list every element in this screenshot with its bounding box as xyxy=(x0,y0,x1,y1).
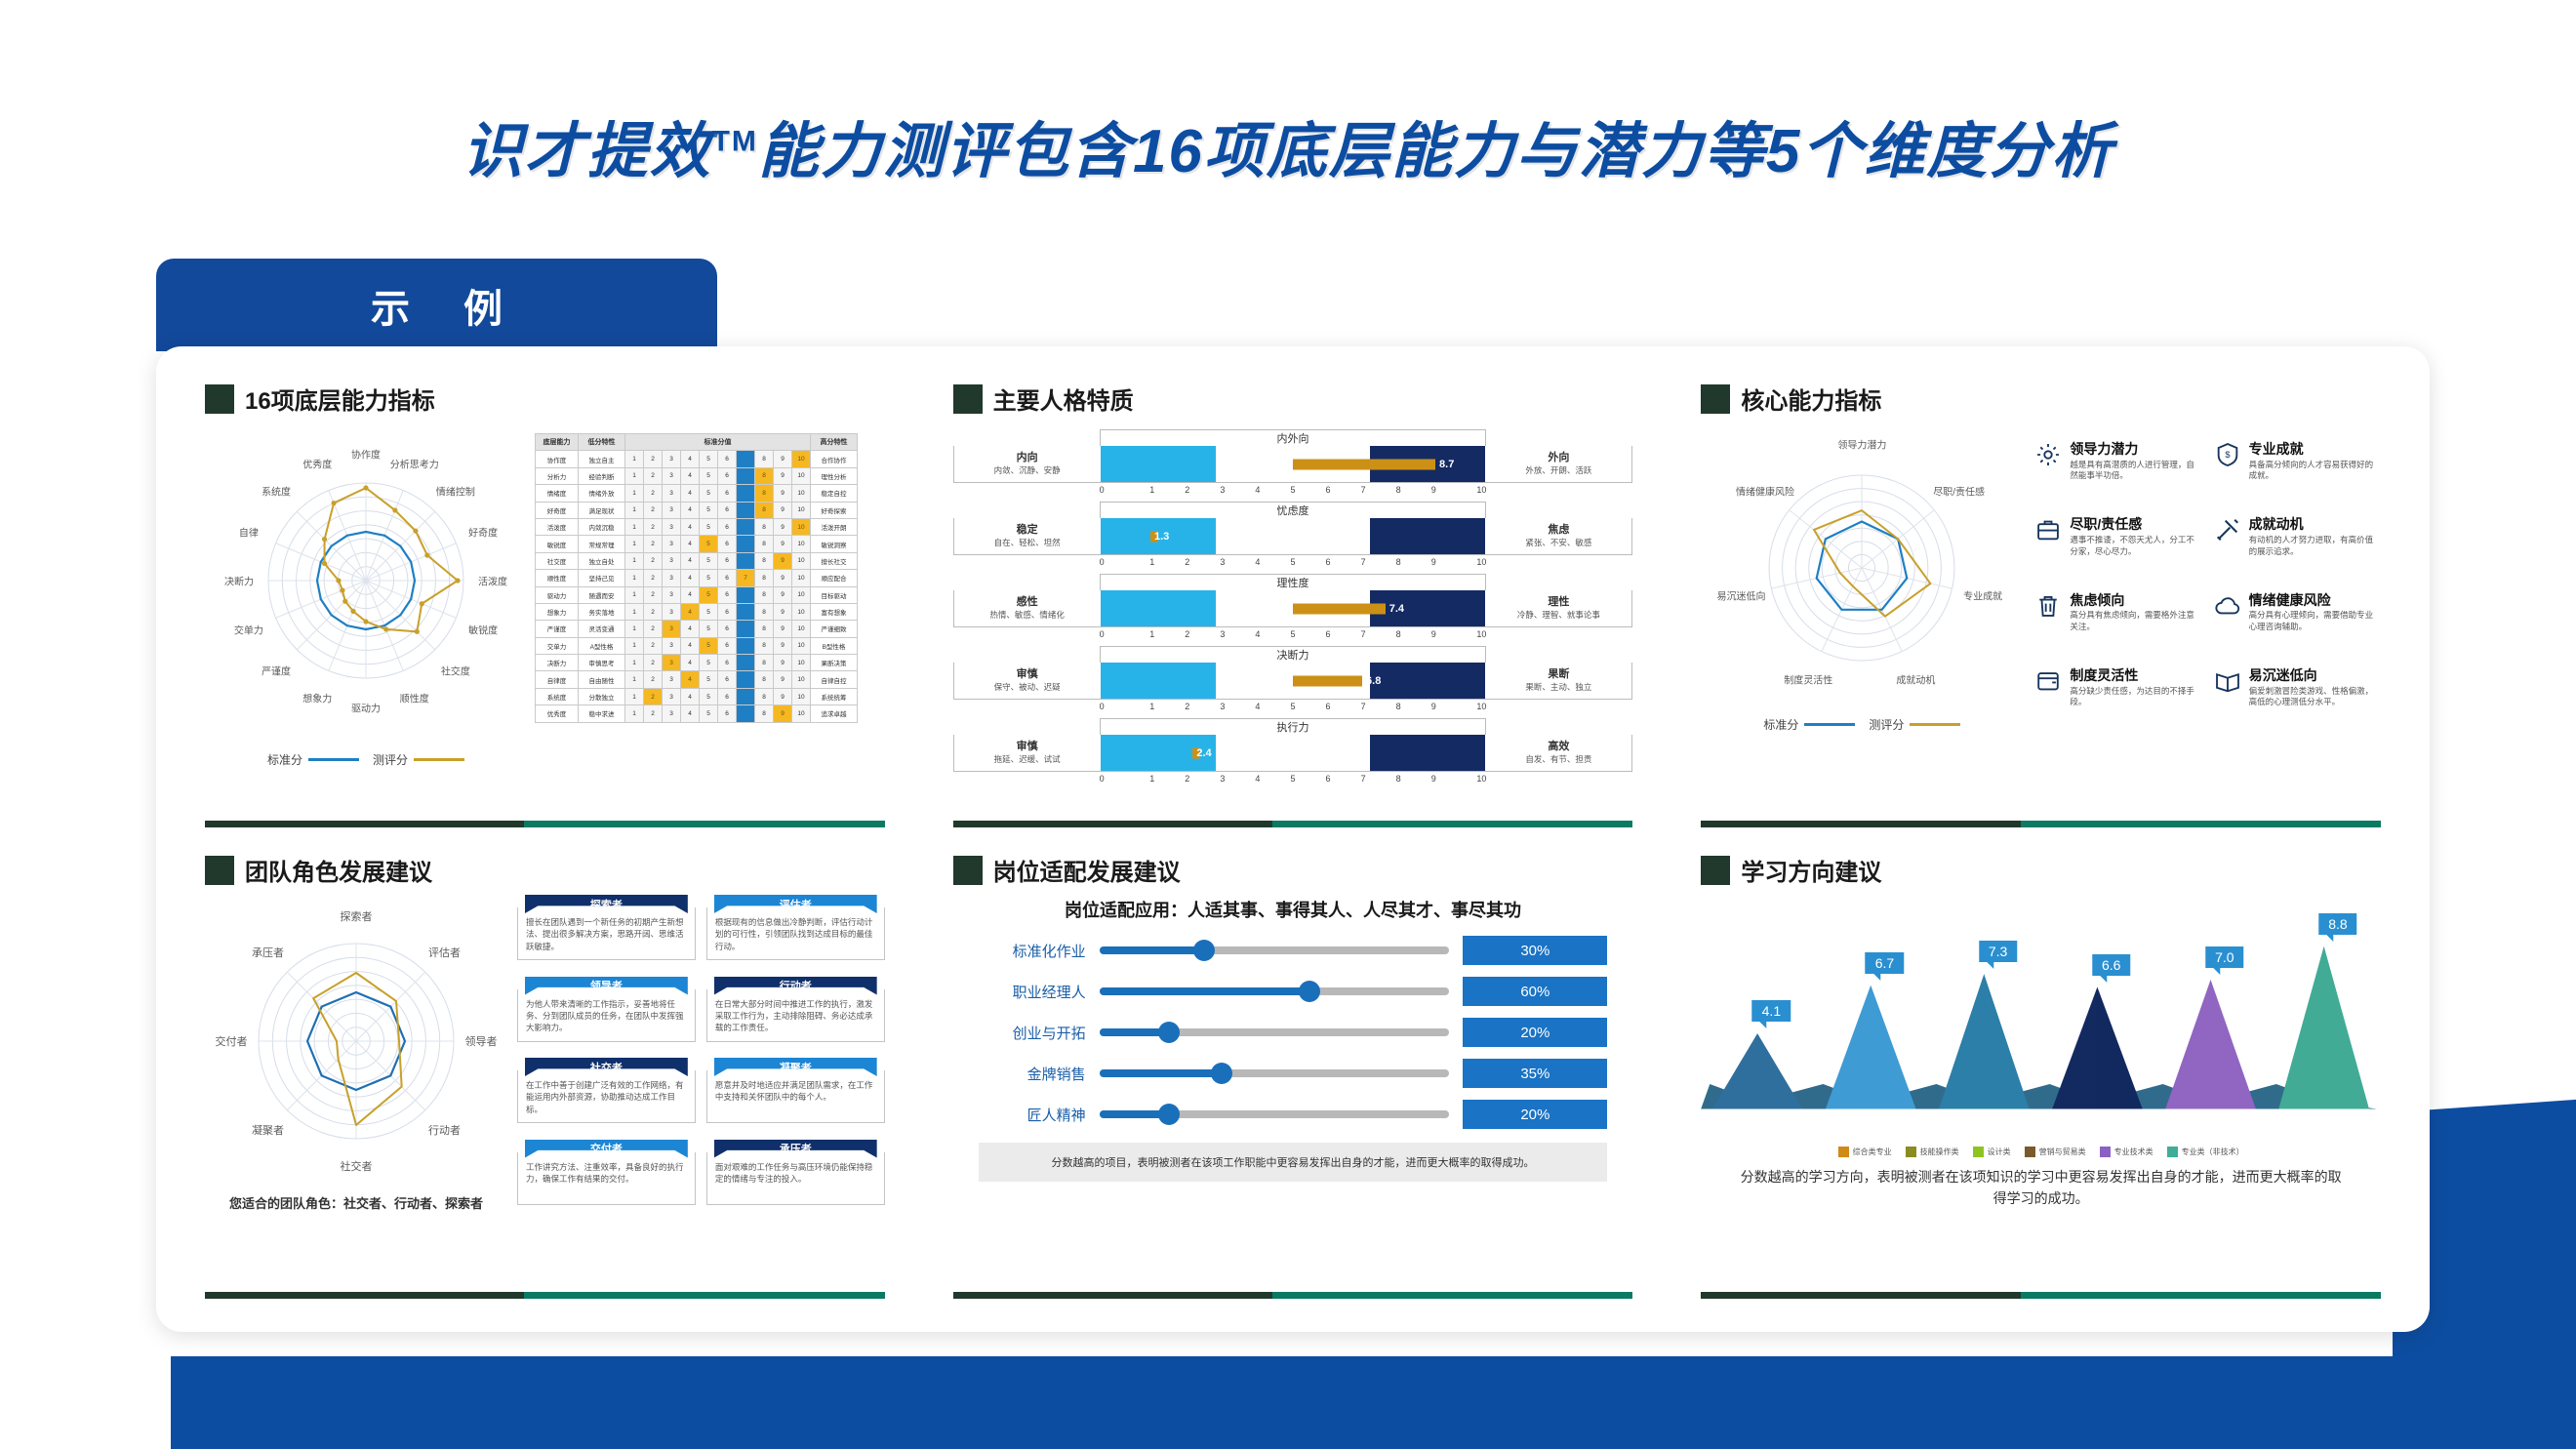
radar-axis-label: 分析思考力 xyxy=(390,456,439,470)
book-icon xyxy=(2214,667,2241,695)
job-fit-value: 20% xyxy=(1463,1018,1607,1047)
panel2-head: 主要人格特质 xyxy=(953,382,1633,416)
cell-high-trait: 敏锐洞察 xyxy=(811,536,858,552)
radar-axis-label: 优秀度 xyxy=(302,456,332,470)
radar-axis-label: 领导力潜力 xyxy=(1837,437,1886,452)
bar-segment-high xyxy=(1370,735,1485,771)
cell-score-10: 10 xyxy=(792,467,811,484)
cell-score-3: 3 xyxy=(663,705,681,722)
legend-label: 技能操作类 xyxy=(1920,1147,1959,1157)
bar-title: 执行力 xyxy=(1100,718,1487,735)
personality-bar: 理性度感性热情、敏感、情绪化7.4理性冷静、理智、就事论事01234567891… xyxy=(953,574,1633,639)
bar-right-name: 理性 xyxy=(1548,596,1569,610)
cell-score-5: 5 xyxy=(700,451,718,467)
radar-chart-core-competency: 领导力潜力尽职/责任感专业成就成就动机制度灵活性易沉迷低向情绪健康风险 xyxy=(1701,423,2023,716)
axis-tick: 7 xyxy=(1346,702,1381,711)
cell-score-4: 4 xyxy=(681,671,700,688)
cell-score-5: 5 xyxy=(700,621,718,637)
job-fit-slider[interactable] xyxy=(1100,1110,1450,1118)
bar-right-name: 外向 xyxy=(1548,452,1569,465)
cell-score-4: 4 xyxy=(681,518,700,535)
bar-title: 内外向 xyxy=(1100,429,1487,446)
cell-score-2: 2 xyxy=(644,637,663,654)
bar-track: 2.4 xyxy=(1101,735,1486,771)
cell-low-trait: 务实落地 xyxy=(579,603,625,620)
cell-score-7: 7 xyxy=(737,536,755,552)
core-item-desc: 高分缺少责任感，为达目的不择手段。 xyxy=(2070,686,2201,708)
cell-score-9: 9 xyxy=(774,485,792,502)
bar-left-label: 审慎拖延、迟缓、试试 xyxy=(954,735,1101,771)
axis-tick: 1 xyxy=(1135,702,1170,711)
bar-main: 审慎拖延、迟缓、试试2.4高效自发、有节、担责 xyxy=(953,735,1633,772)
bar-left-desc: 拖延、迟缓、试试 xyxy=(994,754,1061,765)
cell-high-trait: 系统统筹 xyxy=(811,688,858,704)
cell-capability: 自律度 xyxy=(536,671,579,688)
personality-bar: 执行力审慎拖延、迟缓、试试2.4高效自发、有节、担责012345678910 xyxy=(953,718,1633,784)
learning-value-bubble: 8.8 xyxy=(2318,913,2356,935)
panel-core-competency: 核心能力指标 领导力潜力尽职/责任感专业成就成就动机制度灵活性易沉迷低向情绪健康… xyxy=(1679,368,2402,839)
cell-score-3: 3 xyxy=(663,485,681,502)
axis-tick: 9 xyxy=(1416,557,1451,567)
bar-right-desc: 冷静、理智、就事论事 xyxy=(1517,610,1600,621)
cell-score-6: 6 xyxy=(718,705,737,722)
panel1-rule xyxy=(205,821,885,827)
cell-score-10: 10 xyxy=(792,502,811,518)
cell-score-9: 9 xyxy=(774,518,792,535)
job-fit-label: 金牌销售 xyxy=(979,1064,1086,1084)
bar-segment-high xyxy=(1370,518,1485,554)
medal-icon: $ xyxy=(2214,441,2241,468)
legend-item-standard: 标准分 xyxy=(1763,716,1855,733)
radar-axis-label: 情绪健康风险 xyxy=(1736,483,1794,498)
cell-score-1: 1 xyxy=(625,671,644,688)
cell-low-trait: 随遇而安 xyxy=(579,586,625,603)
cell-low-trait: 常规常理 xyxy=(579,536,625,552)
axis-tick: 3 xyxy=(1205,629,1240,639)
core-item-desc: 越是具有高潜质的人进行管理，自然能事半功倍。 xyxy=(2070,460,2201,482)
learning-direction-legend: 综合类专业技能操作类设计类营销与贸易类专业技术类专业类（非技术） xyxy=(1701,1147,2381,1157)
cell-score-8: 8 xyxy=(755,671,774,688)
panel3-rule xyxy=(1701,821,2381,827)
cell-score-6: 6 xyxy=(718,502,737,518)
learning-value-bubble: 4.1 xyxy=(1752,1000,1791,1022)
radar-axis-label: 交付者 xyxy=(216,1033,248,1049)
cell-capability: 优秀度 xyxy=(536,705,579,722)
job-fit-value: 35% xyxy=(1463,1059,1607,1088)
cell-score-10: 10 xyxy=(792,451,811,467)
axis-tick: 0 xyxy=(1100,485,1135,495)
cell-score-4: 4 xyxy=(681,467,700,484)
panel1-legend: 标准分测评分 xyxy=(205,751,527,768)
panel4-title: 团队角色发展建议 xyxy=(245,853,432,887)
legend-standard-swatch xyxy=(1804,723,1855,726)
axis-tick: 0 xyxy=(1100,629,1135,639)
panel-marker-square xyxy=(953,856,983,885)
cell-score-3: 3 xyxy=(663,570,681,586)
cell-score-6: 6 xyxy=(718,688,737,704)
axis-tick: 8 xyxy=(1381,557,1416,567)
cell-score-7: 7 xyxy=(737,655,755,671)
cell-score-9: 9 xyxy=(774,688,792,704)
bar-axis: 012345678910 xyxy=(1100,557,1487,567)
job-fit-slider[interactable] xyxy=(1100,946,1450,954)
axis-tick: 2 xyxy=(1170,485,1205,495)
table-row: 交单力A型性格12345678910B型性格 xyxy=(536,637,858,654)
radar-axis-label: 协作度 xyxy=(351,447,381,462)
radar-axis-label: 交单力 xyxy=(234,622,263,636)
bar-right-label: 高效自发、有节、担责 xyxy=(1485,735,1631,771)
example-tab-label: 示 例 xyxy=(349,277,524,334)
cell-score-3: 3 xyxy=(663,655,681,671)
legend-score-label: 测评分 xyxy=(1869,716,1904,733)
cell-capability: 活泼度 xyxy=(536,518,579,535)
cell-score-1: 1 xyxy=(625,688,644,704)
job-fit-slider-list: 标准化作业30%职业经理人60%创业与开拓20%金牌销售35%匠人精神20% xyxy=(953,936,1633,1129)
axis-tick: 2 xyxy=(1170,702,1205,711)
cell-score-3: 3 xyxy=(663,688,681,704)
cell-score-8: 8 xyxy=(755,485,774,502)
cell-score-4: 4 xyxy=(681,603,700,620)
cell-high-trait: 富有想象 xyxy=(811,603,858,620)
cell-score-9: 9 xyxy=(774,502,792,518)
job-fit-slider[interactable] xyxy=(1100,1028,1450,1036)
cell-score-7: 7 xyxy=(737,671,755,688)
cell-score-2: 2 xyxy=(644,467,663,484)
cell-score-1: 1 xyxy=(625,451,644,467)
cell-high-trait: 理性分析 xyxy=(811,467,858,484)
cell-score-5: 5 xyxy=(700,688,718,704)
cell-score-9: 9 xyxy=(774,586,792,603)
cell-score-1: 1 xyxy=(625,637,644,654)
cell-high-trait: 好奇探索 xyxy=(811,502,858,518)
legend-score-label: 测评分 xyxy=(373,751,408,768)
cell-score-5: 5 xyxy=(700,570,718,586)
cell-score-8: 8 xyxy=(755,552,774,569)
bar-right-name: 焦虑 xyxy=(1548,524,1569,538)
axis-tick: 3 xyxy=(1205,702,1240,711)
axis-tick: 1 xyxy=(1135,485,1170,495)
core-competency-item: 尽职/责任感遇事不推诿，不怨天尤人，分工不分家，尽心尽力。 xyxy=(2034,516,2201,582)
cell-score-4: 4 xyxy=(681,570,700,586)
legend-swatch xyxy=(2100,1147,2111,1157)
bar-score-value: 8.7 xyxy=(1439,459,1454,470)
cell-score-2: 2 xyxy=(644,552,663,569)
cell-score-5: 5 xyxy=(700,603,718,620)
cell-score-9: 9 xyxy=(774,621,792,637)
job-fit-slider-knob[interactable] xyxy=(1299,981,1320,1002)
core-competency-item: $专业成就具备高分倾向的人才容易获得好的成就。 xyxy=(2214,441,2381,506)
team-role-card: 社交者在工作中善于创建广泛有效的工作网络，有能运用内外部资源，协助推动达成工作目… xyxy=(517,1058,696,1131)
legend-swatch xyxy=(2167,1147,2178,1157)
radar-axis-label: 领导者 xyxy=(465,1033,498,1049)
core-competency-item-list: 领导力潜力越是具有高潜质的人进行管理，自然能事半功倍。$专业成就具备高分倾向的人… xyxy=(2034,423,2381,733)
cloud-icon xyxy=(2214,592,2241,620)
cell-score-5: 5 xyxy=(700,502,718,518)
job-fit-slider-knob[interactable] xyxy=(1193,940,1215,961)
cell-score-2: 2 xyxy=(644,518,663,535)
personality-bar: 决断力审慎保守、被动、迟疑6.8果断果断、主动、独立012345678910 xyxy=(953,646,1633,711)
cell-score-7: 7 xyxy=(737,502,755,518)
panel5-title: 岗位适配发展建议 xyxy=(993,853,1181,887)
cell-score-8: 8 xyxy=(755,570,774,586)
axis-tick: 10 xyxy=(1451,485,1486,495)
bar-left-label: 感性热情、敏感、情绪化 xyxy=(954,590,1101,626)
example-tab[interactable]: 示 例 xyxy=(156,259,717,351)
table-row: 社交度独立自处12345678910擅长社交 xyxy=(536,552,858,569)
core-item-title: 情绪健康风险 xyxy=(2249,592,2381,609)
axis-tick: 6 xyxy=(1310,702,1346,711)
panel-grid: 16项底层能力指标 协作度分析思考力情绪控制好奇度活泼度敏锐度社交度顺性度驱动力… xyxy=(183,368,2402,1310)
axis-tick: 7 xyxy=(1346,485,1381,495)
axis-tick: 7 xyxy=(1346,774,1381,784)
capability-score-table: 底层能力低分特性标准分值高分特性协作度独立自主12345678910合作协作分析… xyxy=(535,425,858,747)
team-role-card: 行动者在日常大部分时间中推进工作的执行，激发采取工作行为，主动排除阻碍、务必达成… xyxy=(706,977,885,1050)
job-fit-label: 匠人精神 xyxy=(979,1105,1086,1125)
panel2-rule xyxy=(953,821,1633,827)
cell-score-6: 6 xyxy=(718,536,737,552)
cell-score-10: 10 xyxy=(792,485,811,502)
cell-score-3: 3 xyxy=(663,502,681,518)
cell-score-9: 9 xyxy=(774,467,792,484)
team-role-desc: 面对艰难的工作任务与高压环境仍能保持稳定的情绪与专注的投入。 xyxy=(706,1152,885,1205)
table-row: 情绪度情绪外放12345678910稳定自控 xyxy=(536,485,858,502)
bar-main: 感性热情、敏感、情绪化7.4理性冷静、理智、就事论事 xyxy=(953,590,1633,627)
panel5-rule xyxy=(953,1292,1633,1299)
bar-right-name: 高效 xyxy=(1548,741,1569,754)
cell-score-2: 2 xyxy=(644,586,663,603)
cell-score-9: 9 xyxy=(774,536,792,552)
axis-tick: 9 xyxy=(1416,629,1451,639)
bar-left-desc: 热情、敏感、情绪化 xyxy=(989,610,1065,621)
cell-score-2: 2 xyxy=(644,655,663,671)
panel-learning-direction: 学习方向建议 4.16.77.36.67.08.8 综合类专业技能操作类设计类营… xyxy=(1679,839,2402,1310)
core-competency-item: 领导力潜力越是具有高潜质的人进行管理，自然能事半功倍。 xyxy=(2034,441,2201,506)
bar-right-label: 外向外放、开朗、活跃 xyxy=(1485,446,1631,482)
team-role-summary-roles: 社交者、行动者、探索者 xyxy=(343,1196,483,1211)
panel-marker-square xyxy=(205,384,234,414)
cell-score-3: 3 xyxy=(663,536,681,552)
bar-left-name: 审慎 xyxy=(1017,741,1038,754)
bar-left-name: 内向 xyxy=(1017,452,1038,465)
axis-tick: 9 xyxy=(1416,774,1451,784)
team-role-desc: 愿意并及时地适应并满足团队需求，在工作中支持和关怀团队中的每个人。 xyxy=(706,1070,885,1123)
cell-score-7: 7 xyxy=(737,637,755,654)
decor-blue-bottom-bar xyxy=(171,1356,2576,1449)
team-role-desc: 根据现有的信息做出冷静判断，评估行动计划的可行性，引领团队找到达成目标的最佳行动… xyxy=(706,907,885,960)
radar-axis-label: 决断力 xyxy=(224,574,254,588)
legend-standard-label: 标准分 xyxy=(1763,716,1798,733)
table-row: 想象力务实落地12345678910富有想象 xyxy=(536,603,858,620)
cell-score-3: 3 xyxy=(663,586,681,603)
cell-score-2: 2 xyxy=(644,485,663,502)
cell-score-3: 3 xyxy=(663,621,681,637)
team-role-card: 凝聚者愿意并及时地适应并满足团队需求，在工作中支持和关怀团队中的每个人。 xyxy=(706,1058,885,1131)
core-item-desc: 高分具有焦虑倾向，需要格外注意关注。 xyxy=(2070,610,2201,632)
cell-score-10: 10 xyxy=(792,621,811,637)
cell-capability: 系统度 xyxy=(536,688,579,704)
cell-low-trait: 经验判断 xyxy=(579,467,625,484)
personality-bar-list: 内外向内向内敛、沉静、安静8.7外向外放、开朗、活跃012345678910忧虑… xyxy=(953,429,1633,784)
radar-axis-label: 系统度 xyxy=(262,484,291,499)
legend-swatch xyxy=(1906,1147,1916,1157)
cell-score-5: 5 xyxy=(700,586,718,603)
legend-item: 专业类（非技术） xyxy=(2167,1147,2244,1157)
axis-tick: 10 xyxy=(1451,702,1486,711)
cell-score-7: 7 xyxy=(737,467,755,484)
cell-capability: 顺性度 xyxy=(536,570,579,586)
core-competency-item: 焦虑倾向高分具有焦虑倾向，需要格外注意关注。 xyxy=(2034,592,2201,658)
cell-score-1: 1 xyxy=(625,536,644,552)
job-fit-slider-fill xyxy=(1100,946,1205,954)
cell-score-8: 8 xyxy=(755,603,774,620)
radar-chart-team-roles: 探索者评估者领导者行动者社交者凝聚者交付者承压者 xyxy=(205,895,507,1187)
cell-score-10: 10 xyxy=(792,536,811,552)
cell-score-4: 4 xyxy=(681,637,700,654)
cell-score-9: 9 xyxy=(774,570,792,586)
bar-axis: 012345678910 xyxy=(1100,485,1487,495)
cell-score-4: 4 xyxy=(681,502,700,518)
cell-capability: 严谨度 xyxy=(536,621,579,637)
cell-capability: 社交度 xyxy=(536,552,579,569)
bar-left-name: 感性 xyxy=(1017,596,1038,610)
cell-score-2: 2 xyxy=(644,536,663,552)
cell-score-6: 6 xyxy=(718,671,737,688)
panel-marker-square xyxy=(1701,856,1730,885)
axis-tick: 9 xyxy=(1416,702,1451,711)
cell-score-6: 6 xyxy=(718,637,737,654)
core-competency-item: 情绪健康风险高分具有心理倾向，需要借助专业心理咨询辅助。 xyxy=(2214,592,2381,658)
cell-score-4: 4 xyxy=(681,451,700,467)
bar-score-value: 2.4 xyxy=(1196,747,1211,759)
cell-low-trait: 内敛沉稳 xyxy=(579,518,625,535)
learning-direction-mountain-chart: 4.16.77.36.67.08.8 xyxy=(1701,891,2381,1145)
axis-tick: 8 xyxy=(1381,629,1416,639)
cell-low-trait: 满足现状 xyxy=(579,502,625,518)
legend-item-score: 测评分 xyxy=(373,751,464,768)
cell-high-trait: 果断决策 xyxy=(811,655,858,671)
radar-axis-label: 情绪控制 xyxy=(436,484,475,499)
team-role-card-list: 探索者擅长在团队遇到一个新任务的初期产生新想法、提出很多解决方案，思路开阔、思维… xyxy=(517,895,885,1212)
bar-main: 稳定自在、轻松、坦然1.3焦虑紧张、不安、敏感 xyxy=(953,518,1633,555)
team-role-summary: 您适合的团队角色：社交者、行动者、探索者 xyxy=(205,1193,507,1212)
cell-score-9: 9 xyxy=(774,552,792,569)
bar-right-label: 理性冷静、理智、就事论事 xyxy=(1485,590,1631,626)
axis-tick: 5 xyxy=(1275,557,1310,567)
bar-right-desc: 紧张、不安、敏感 xyxy=(1525,538,1591,548)
team-role-desc: 为他人带来清晰的工作指示，妥善地将任务、分到团队成员的任务，在团队中发挥强大影响… xyxy=(517,989,696,1042)
cell-low-trait: 独立自处 xyxy=(579,552,625,569)
cell-low-trait: A型性格 xyxy=(579,637,625,654)
job-fit-slider-knob[interactable] xyxy=(1158,1104,1180,1125)
cell-score-2: 2 xyxy=(644,502,663,518)
bar-score-value: 7.4 xyxy=(1389,603,1404,615)
cell-score-4: 4 xyxy=(681,586,700,603)
cell-score-7: 7 xyxy=(737,570,755,586)
panel4-rule xyxy=(205,1292,885,1299)
axis-tick: 6 xyxy=(1310,557,1346,567)
panel-marker-square xyxy=(953,384,983,414)
bar-right-desc: 果断、主动、独立 xyxy=(1525,682,1591,693)
cell-score-5: 5 xyxy=(700,671,718,688)
table-row: 严谨度灵活变通12345678910严谨细致 xyxy=(536,621,858,637)
axis-tick: 9 xyxy=(1416,485,1451,495)
core-item-desc: 偏爱刺激冒险类游戏、性格偏激，高低的心理测低分水平。 xyxy=(2249,686,2381,708)
panel-marker-square xyxy=(205,856,234,885)
job-fit-slider[interactable] xyxy=(1100,1069,1450,1077)
cell-high-trait: 追求卓越 xyxy=(811,705,858,722)
bar-score-marker xyxy=(1293,675,1362,686)
legend-label: 设计类 xyxy=(1988,1147,2011,1157)
radar-axis-label: 驱动力 xyxy=(351,701,381,715)
cell-score-4: 4 xyxy=(681,655,700,671)
job-fit-slider[interactable] xyxy=(1100,987,1450,995)
panel5-head: 岗位适配发展建议 xyxy=(953,853,1633,887)
cell-score-2: 2 xyxy=(644,451,663,467)
bar-left-name: 审慎 xyxy=(1017,668,1038,682)
cell-score-2: 2 xyxy=(644,671,663,688)
axis-tick: 4 xyxy=(1240,557,1275,567)
cell-high-trait: 活泼开朗 xyxy=(811,518,858,535)
table-row: 系统度分散独立12345678910系统统筹 xyxy=(536,688,858,704)
job-fit-slider-knob[interactable] xyxy=(1211,1063,1232,1084)
cell-score-10: 10 xyxy=(792,705,811,722)
cell-score-6: 6 xyxy=(718,518,737,535)
cell-score-1: 1 xyxy=(625,655,644,671)
cell-score-3: 3 xyxy=(663,671,681,688)
radar-axis-label: 自律 xyxy=(239,525,259,540)
bar-track: 8.7 xyxy=(1101,446,1486,482)
cell-capability: 分析力 xyxy=(536,467,579,484)
job-fit-row: 职业经理人60% xyxy=(979,977,1608,1006)
cell-score-1: 1 xyxy=(625,467,644,484)
job-fit-slider-knob[interactable] xyxy=(1158,1022,1180,1043)
cell-score-3: 3 xyxy=(663,637,681,654)
panel6-title: 学习方向建议 xyxy=(1741,853,1881,887)
team-role-desc: 擅长在团队遇到一个新任务的初期产生新想法、提出很多解决方案，思路开阔、思维活跃敏… xyxy=(517,907,696,960)
job-fit-label: 职业经理人 xyxy=(979,982,1086,1002)
legend-item: 营销与贸易类 xyxy=(2025,1147,2086,1157)
core-item-title: 焦虑倾向 xyxy=(2070,592,2201,609)
learning-value-bubble: 6.7 xyxy=(1866,952,1904,974)
bar-score-marker xyxy=(1293,459,1435,469)
legend-item: 设计类 xyxy=(1973,1147,2011,1157)
cell-score-6: 6 xyxy=(718,467,737,484)
bar-left-name: 稳定 xyxy=(1017,524,1038,538)
bar-left-label: 稳定自在、轻松、坦然 xyxy=(954,518,1101,554)
job-fit-slider-fill xyxy=(1100,1069,1223,1077)
team-role-card: 领导者为他人带来清晰的工作指示，妥善地将任务、分到团队成员的任务，在团队中发挥强… xyxy=(517,977,696,1050)
cell-score-8: 8 xyxy=(755,502,774,518)
axis-tick: 2 xyxy=(1170,629,1205,639)
cell-capability: 交单力 xyxy=(536,637,579,654)
job-fit-value: 20% xyxy=(1463,1100,1607,1129)
cell-capability: 协作度 xyxy=(536,451,579,467)
axis-tick: 4 xyxy=(1240,485,1275,495)
cell-high-trait: 顺应配合 xyxy=(811,570,858,586)
cell-score-5: 5 xyxy=(700,467,718,484)
bar-track: 6.8 xyxy=(1101,663,1486,699)
bar-score-value: 1.3 xyxy=(1154,531,1169,543)
job-fit-value: 60% xyxy=(1463,977,1607,1006)
axis-tick: 7 xyxy=(1346,557,1381,567)
legend-standard-label: 标准分 xyxy=(267,751,302,768)
bar-axis: 012345678910 xyxy=(1100,774,1487,784)
page-title-rest: 能力测评包含16项底层能力与潜力等5个维度分析 xyxy=(758,118,2113,185)
axis-tick: 2 xyxy=(1170,774,1205,784)
cell-score-8: 8 xyxy=(755,637,774,654)
panel3-legend: 标准分测评分 xyxy=(1701,716,2023,733)
axis-tick: 4 xyxy=(1240,629,1275,639)
